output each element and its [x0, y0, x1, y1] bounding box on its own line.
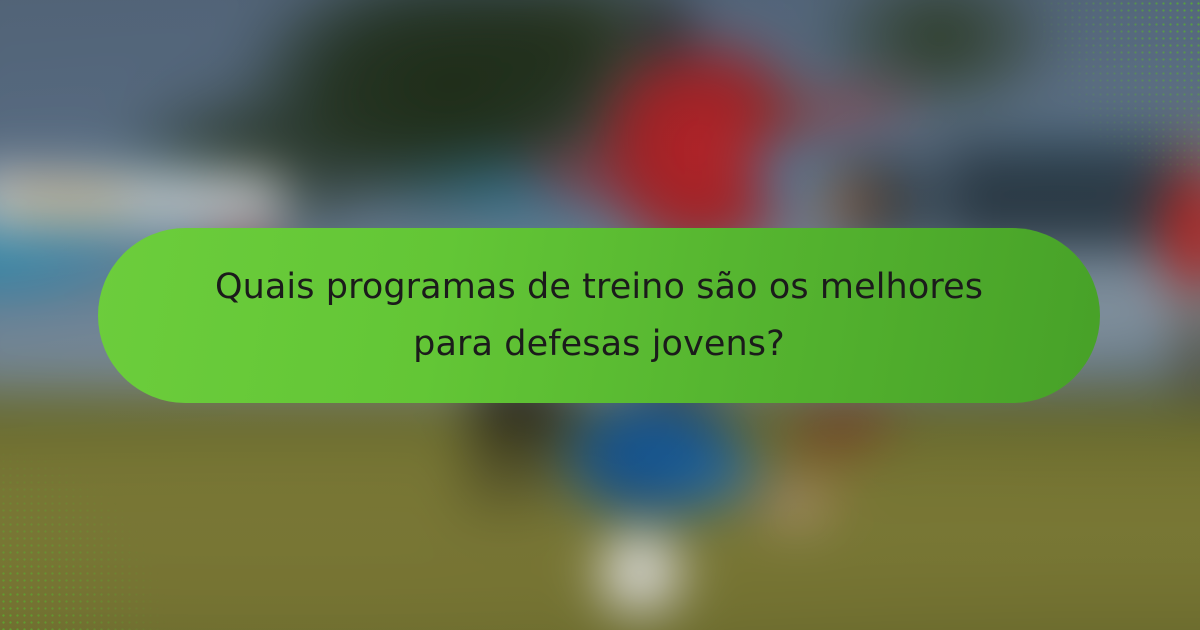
player-white-shoe: [765, 488, 831, 533]
soccer-ball: [600, 533, 682, 616]
player-red-right-legs: [1154, 293, 1200, 443]
headline-pill: Quais programas de treino são os melhore…: [98, 228, 1100, 403]
player-blue-background-head: [752, 83, 811, 143]
player-red-right-body: [1141, 150, 1200, 315]
sign-board-accent: [6, 191, 125, 209]
headline-text: Quais programas de treino são os melhore…: [215, 259, 983, 372]
social-share-card: Quais programas de treino são os melhore…: [0, 0, 1200, 630]
player-red-head: [626, 0, 712, 75]
